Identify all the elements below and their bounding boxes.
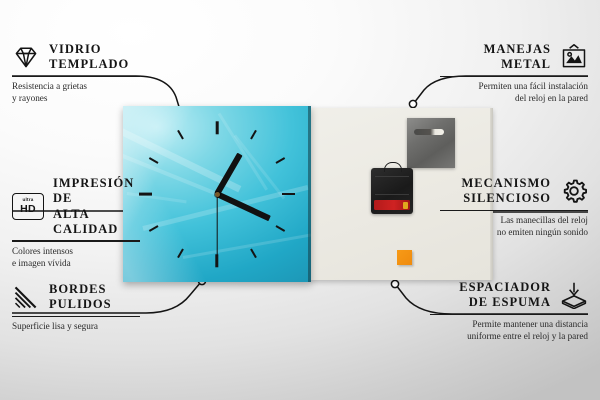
feature-description: Permite mantener una distancia uniforme … [430, 318, 588, 342]
feature-divider [12, 76, 140, 78]
feature-divider [440, 76, 588, 78]
feature-mecanismo-silencioso: MECANISMO SILENCIOSO Las manecillas del … [440, 176, 588, 238]
feature-divider [430, 314, 588, 316]
feature-divider [12, 316, 140, 318]
feature-vidrio-templado: VIDRIO TEMPLADO Resistencia a grietas y … [12, 42, 140, 104]
feature-header: ultra HD IMPRESIÓN DE ALTA CALIDAD [12, 176, 140, 237]
feature-title: VIDRIO TEMPLADO [49, 42, 129, 73]
feature-title: MANEJAS METAL [484, 42, 551, 73]
feature-title: BORDES PULIDOS [49, 282, 112, 313]
feature-espaciador-espuma: ESPACIADOR DE ESPUMA Permite mantener un… [430, 280, 588, 342]
feature-header: BORDES PULIDOS [12, 282, 140, 313]
clock-tick [216, 121, 219, 134]
feature-description: Superficie lisa y segura [12, 320, 140, 332]
mechanism-seam-lower [375, 194, 409, 195]
clock-mechanism [371, 168, 413, 214]
feature-header: ESPACIADOR DE ESPUMA [430, 280, 588, 311]
mechanism-seam [375, 176, 409, 177]
second-hand [216, 194, 217, 256]
clock-center-hub [215, 192, 220, 197]
feature-description: Las manecillas del reloj no emiten ningú… [440, 214, 588, 238]
feature-description: Resistencia a grietas y rayones [12, 80, 140, 104]
feature-description: Permiten una fácil instalación del reloj… [440, 80, 588, 104]
feature-description: Colores intensos e imagen vívida [12, 245, 140, 269]
ultra-hd-icon: ultra HD [12, 193, 44, 220]
feature-title: MECANISMO SILENCIOSO [461, 176, 551, 207]
gear-icon [560, 177, 588, 205]
feature-impresion-alta-calidad: ultra HD IMPRESIÓN DE ALTA CALIDAD Color… [12, 176, 140, 269]
glass-clock-face [123, 106, 311, 282]
polished-edges-icon [12, 283, 40, 311]
feature-header: VIDRIO TEMPLADO [12, 42, 140, 73]
feature-manejas-metal: MANEJAS METAL Permiten una fácil instala… [440, 42, 588, 104]
feature-bordes-pulidos: BORDES PULIDOS Superficie lisa y segura [12, 282, 140, 332]
feature-title: IMPRESIÓN DE ALTA CALIDAD [53, 176, 140, 237]
clock-tick [216, 254, 219, 267]
feature-divider [440, 210, 588, 212]
picture-frame-hanger-icon [560, 43, 588, 71]
foam-spacer [397, 250, 412, 265]
hanger-slot [414, 129, 444, 135]
metal-hanger-plate [407, 118, 455, 168]
infographic-canvas: VIDRIO TEMPLADO Resistencia a grietas y … [0, 0, 600, 400]
product-image [123, 106, 493, 282]
feature-header: MECANISMO SILENCIOSO [440, 176, 588, 207]
feature-divider [12, 240, 140, 242]
foam-spacer-icon [560, 281, 588, 309]
clock-tick [139, 193, 152, 196]
ultra-hd-icon-main-label: HD [20, 204, 36, 215]
mechanism-hanging-loop [384, 162, 402, 172]
glass-edge [308, 106, 311, 282]
feature-title: ESPACIADOR DE ESPUMA [459, 280, 551, 311]
battery [374, 200, 410, 210]
diamond-icon [12, 43, 40, 71]
feature-header: MANEJAS METAL [440, 42, 588, 73]
clock-tick [282, 193, 295, 196]
